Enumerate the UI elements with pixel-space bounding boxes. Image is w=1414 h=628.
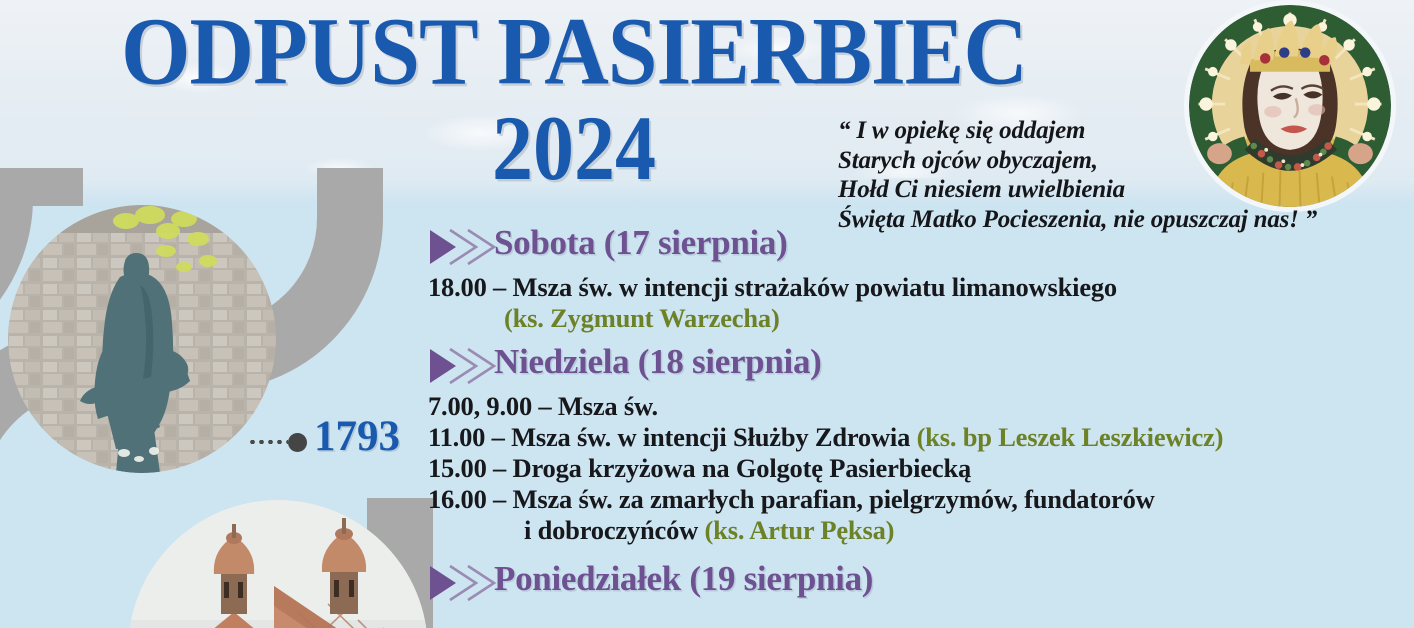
event-row: 11.00 – Msza św. w intencji Służby Zdrow… <box>428 422 1414 453</box>
poster-quote: “ I w opiekę się oddajem Starych ojców o… <box>838 116 1414 234</box>
event-celebrant: (ks. bp Leszek Leszkiewicz) <box>917 422 1224 452</box>
day-label-sunday: Niedziela (18 sierpnia) <box>494 342 822 382</box>
quote-line-2: Starych ojców obyczajem, <box>838 146 1414 176</box>
quote-line-1: “ I w opiekę się oddajem <box>838 116 1414 146</box>
event-text: 16.00 – Msza św. za zmarłych parafian, p… <box>428 484 1155 514</box>
event-text: i dobroczyńców <box>524 515 705 545</box>
event-text: 7.00, 9.00 – Msza św. <box>428 391 658 421</box>
event-row: 16.00 – Msza św. za zmarłych parafian, p… <box>428 484 1414 515</box>
event-row: i dobroczyńców (ks. Artur Pęksa) <box>428 515 1414 546</box>
day-header-monday: Poniedziałek (19 sierpnia) <box>428 560 1414 606</box>
poster-title: ODPUST PASIERBIEC <box>23 4 1125 98</box>
dotted-leader-line <box>248 440 288 444</box>
event-row: 15.00 – Droga krzyżowa na Golgotę Pasier… <box>428 453 1414 484</box>
poster-root: ODPUST PASIERBIEC 2024 “ I w opiekę się … <box>0 0 1414 628</box>
event-text: 18.00 – Msza św. w intencji strażaków po… <box>428 272 1117 302</box>
event-schedule: Sobota (17 sierpnia) 18.00 – Msza św. w … <box>428 224 1414 608</box>
event-text: 11.00 – Msza św. w intencji Służby Zdrow… <box>428 422 917 452</box>
quote-line-3: Hołd Ci niesiem uwielbienia <box>838 175 1414 205</box>
event-row: 7.00, 9.00 – Msza św. <box>428 391 1414 422</box>
event-row: 18.00 – Msza św. w intencji strażaków po… <box>428 272 1414 303</box>
day-header-saturday: Sobota (17 sierpnia) <box>428 224 1414 270</box>
day-label-monday: Poniedziałek (19 sierpnia) <box>494 559 873 599</box>
marian-statue-photo <box>8 205 276 473</box>
marker-dot-icon <box>288 433 307 452</box>
event-text: 15.00 – Droga krzyżowa na Golgotę Pasier… <box>428 453 971 483</box>
event-row: (ks. Zygmunt Warzecha) <box>428 303 1414 334</box>
foundation-year-label: 1793 <box>314 412 400 461</box>
triple-arrow-icon <box>428 228 500 266</box>
event-celebrant: (ks. Artur Pęksa) <box>705 515 895 545</box>
event-celebrant: (ks. Zygmunt Warzecha) <box>504 303 780 333</box>
day-label-saturday: Sobota (17 sierpnia) <box>494 223 787 263</box>
year-marker: 1793 <box>248 420 418 466</box>
triple-arrow-icon <box>428 347 500 385</box>
day-header-sunday: Niedziela (18 sierpnia) <box>428 343 1414 389</box>
triple-arrow-icon <box>428 564 500 602</box>
